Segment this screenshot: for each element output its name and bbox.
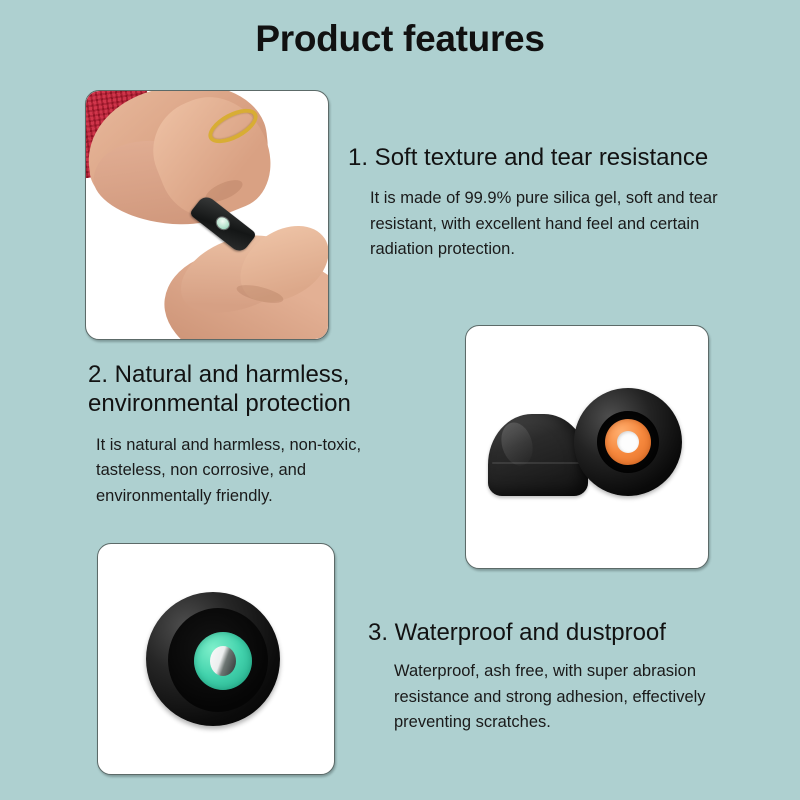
photo-card-single-tip — [97, 543, 335, 775]
feature-1-heading: 1. Soft texture and tear resistance — [348, 143, 778, 172]
feature-2-heading: 2. Natural and harmless, environmental p… — [88, 360, 438, 419]
photo-hands-stretching-silicone-tip — [86, 91, 328, 339]
photo-card-pair-of-tips — [465, 325, 709, 569]
page-title: Product features — [0, 18, 800, 60]
ear-tip-angled-bore-shape — [168, 608, 268, 712]
mint-inner-ring-shape — [194, 632, 252, 690]
feature-block-1: 1. Soft texture and tear resistance It i… — [348, 143, 778, 263]
ear-tip-bore-shape — [597, 411, 659, 473]
feature-3-body: Waterproof, ash free, with super abrasio… — [394, 659, 774, 736]
feature-3-heading: 3. Waterproof and dustproof — [368, 618, 788, 647]
feature-block-2: 2. Natural and harmless, environmental p… — [88, 360, 438, 509]
ear-tip-side-view-shape — [488, 414, 588, 496]
feature-1-body: It is made of 99.9% pure silica gel, sof… — [370, 186, 762, 263]
feature-block-3: 3. Waterproof and dustproof Waterproof, … — [368, 618, 788, 736]
ear-tip-angled-view-shape — [146, 592, 280, 726]
orange-inner-ring-shape — [605, 419, 651, 465]
photo-card-hands-stretching — [85, 90, 329, 340]
feature-2-body: It is natural and harmless, non-toxic, t… — [96, 433, 406, 510]
photo-pair-of-ear-tips-orange-core — [466, 326, 708, 568]
ear-tip-front-view-shape — [574, 388, 682, 496]
photo-single-ear-tip-mint-core — [98, 544, 334, 774]
product-features-page: Product features 1. Soft texture and tea… — [0, 0, 800, 800]
